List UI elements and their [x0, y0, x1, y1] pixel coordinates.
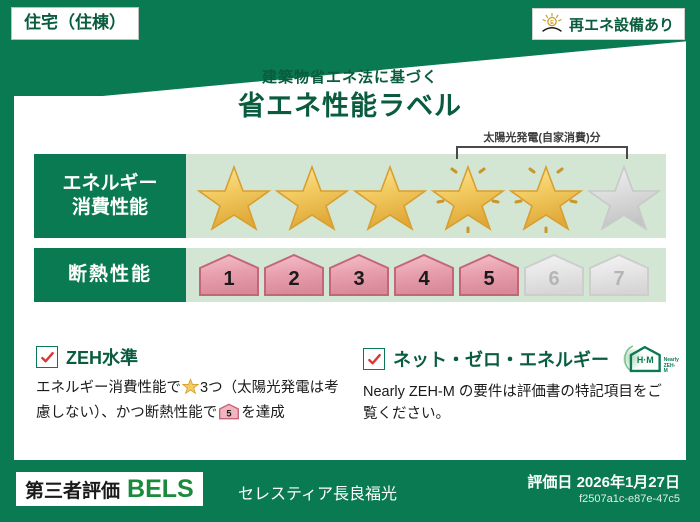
- checkbox-checked-icon: [36, 346, 58, 368]
- label-card: 建築物省エネ法に基づく 省エネ性能ラベル エネルギー 消費性能 太陽光発電(自家…: [14, 96, 686, 444]
- net-zero-energy-title: ネット・ゼロ・エネルギー: [393, 346, 609, 372]
- insulation-grade-1-number: 1: [198, 268, 260, 291]
- gold-star-icon: [182, 378, 199, 402]
- checkbox-checked-icon-2: [363, 348, 385, 370]
- zeh-standard-header: ZEH水準: [36, 344, 349, 370]
- insulation-row-label: 断熱性能: [34, 248, 186, 302]
- energy-performance-label: 住宅（住棟） E 再エネ設備あり 建築物省エネ法に基づく 省エネ性能ラベル: [0, 0, 700, 522]
- zeh-body-part3: を達成: [241, 405, 285, 421]
- zeh-standard-body: エネルギー消費性能で3つ（太陽光発電は考慮しない）、かつ断熱性能で5を達成: [36, 377, 349, 428]
- net-zero-energy-body: Nearly ZEH-M の要件は評価書の特記項目をご覧ください。: [363, 381, 676, 426]
- star-icon-5-solar: [508, 159, 584, 233]
- insulation-grade-5-number: 5: [458, 268, 520, 291]
- frame-border-right: [686, 0, 700, 522]
- zeh-body-part1: エネルギー消費性能で: [36, 380, 181, 396]
- solar-annotation: 太陽光発電(自家消費)分: [454, 128, 630, 146]
- insulation-grade-6: 6: [523, 253, 585, 297]
- star-icon-2: [274, 159, 350, 233]
- evaluation-date: 評価日 2026年1月27日: [527, 471, 680, 492]
- net-zero-energy-block: ネット・ゼロ・エネルギー H·M: [363, 344, 676, 428]
- svg-text:E: E: [550, 20, 554, 26]
- evaluation-date-label: 評価日: [527, 474, 572, 491]
- insulation-grade-7: 7: [588, 253, 650, 297]
- solar-sun-icon: E: [540, 12, 564, 36]
- page-title: 省エネ性能ラベル: [14, 84, 686, 123]
- solar-annotation-caption: 太陽光発電(自家消費)分: [483, 129, 600, 145]
- insulation-grade-4-number: 4: [393, 268, 455, 291]
- insulation-grade-scale: 1 2 3: [186, 253, 650, 297]
- info-blocks: ZEH水準 エネルギー消費性能で3つ（太陽光発電は考慮しない）、かつ断熱性能で5…: [36, 344, 676, 428]
- zeh-standard-block: ZEH水準 エネルギー消費性能で3つ（太陽光発電は考慮しない）、かつ断熱性能で5…: [36, 344, 349, 428]
- insulation-grade-3-number: 3: [328, 268, 390, 291]
- insulation-grade-2-number: 2: [263, 268, 325, 291]
- energy-row-label-line1: エネルギー: [62, 172, 157, 196]
- bels-brand-label: BELS: [127, 477, 194, 502]
- category-chip: 住宅（住棟）: [11, 7, 139, 40]
- bels-certification-chip: 第三者評価 BELS: [16, 472, 203, 506]
- insulation-grade-3: 3: [328, 253, 390, 297]
- insulation-grade-1: 1: [198, 253, 260, 297]
- third-party-eval-label: 第三者評価: [25, 476, 120, 503]
- insulation-grade-5: 5: [458, 253, 520, 297]
- insulation-grade-2: 2: [263, 253, 325, 297]
- star-icon-1: [196, 159, 272, 233]
- energy-performance-row: エネルギー 消費性能 太陽光発電(自家消費)分: [34, 154, 666, 238]
- zehm-logo-line2: ZEH-M: [664, 363, 676, 374]
- net-zero-energy-header: ネット・ゼロ・エネルギー H·M: [363, 344, 676, 374]
- star-icon-4-solar: [430, 159, 506, 233]
- energy-star-rating: [186, 159, 662, 233]
- star-icon-3: [352, 159, 428, 233]
- label-footer: 第三者評価 BELS セレスティア長良福光 評価日 2026年1月27日 f25…: [0, 460, 700, 522]
- insulation-grade-4: 4: [393, 253, 455, 297]
- energy-row-body: 太陽光発電(自家消費)分: [186, 154, 666, 238]
- svg-text:H·M: H·M: [637, 355, 654, 365]
- energy-row-label-line2: 消費性能: [72, 196, 148, 220]
- evaluation-id: f2507a1c-e87e-47c5: [579, 493, 680, 505]
- zeh-standard-title: ZEH水準: [66, 344, 138, 370]
- solar-annotation-bracket: [456, 146, 628, 159]
- insulation-grade-6-number: 6: [523, 268, 585, 291]
- renewable-badge-label: 再エネ設備あり: [569, 14, 674, 35]
- insulation-grade-7-number: 7: [588, 268, 650, 291]
- evaluation-date-value: 2026年1月27日: [577, 474, 680, 491]
- energy-row-label: エネルギー 消費性能: [34, 154, 186, 238]
- property-name: セレスティア長良福光: [238, 480, 397, 504]
- insulation-row-body: 1 2 3: [186, 248, 666, 302]
- nearly-zeh-m-logo-icon: H·M Nearly ZEH-M: [621, 344, 679, 374]
- svg-text:5: 5: [227, 409, 232, 419]
- insulation-grade-inline-icon: 5: [218, 403, 240, 427]
- star-icon-6-empty: [586, 159, 662, 233]
- renewable-equipment-badge: E 再エネ設備あり: [532, 8, 685, 40]
- insulation-performance-row: 断熱性能: [34, 248, 666, 302]
